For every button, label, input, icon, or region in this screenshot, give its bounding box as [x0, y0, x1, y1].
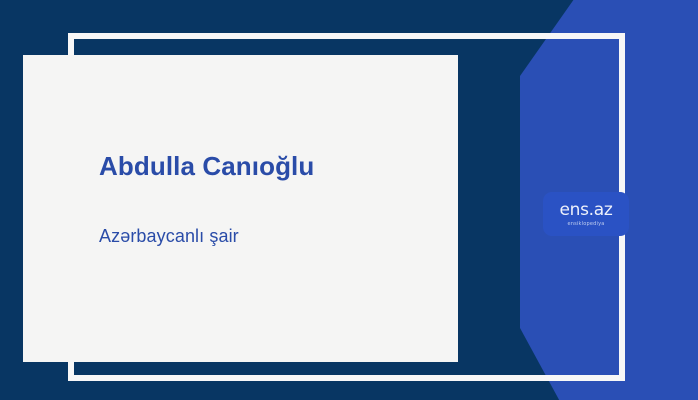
- ensaz-logo-badge[interactable]: ens.az ensiklopediya: [543, 192, 629, 236]
- ensaz-title-slide: Abdulla Canıoğlu Azərbaycanlı şair ens.a…: [0, 0, 698, 400]
- page-title: Abdulla Canıoğlu: [99, 151, 439, 182]
- content-card: Abdulla Canıoğlu Azərbaycanlı şair: [23, 55, 458, 362]
- logo-tagline: ensiklopediya: [567, 219, 604, 227]
- logo-wordmark: ens.az: [559, 202, 612, 219]
- page-subtitle: Azərbaycanlı şair: [99, 182, 439, 248]
- card-text-block: Abdulla Canıoğlu Azərbaycanlı şair: [99, 151, 439, 248]
